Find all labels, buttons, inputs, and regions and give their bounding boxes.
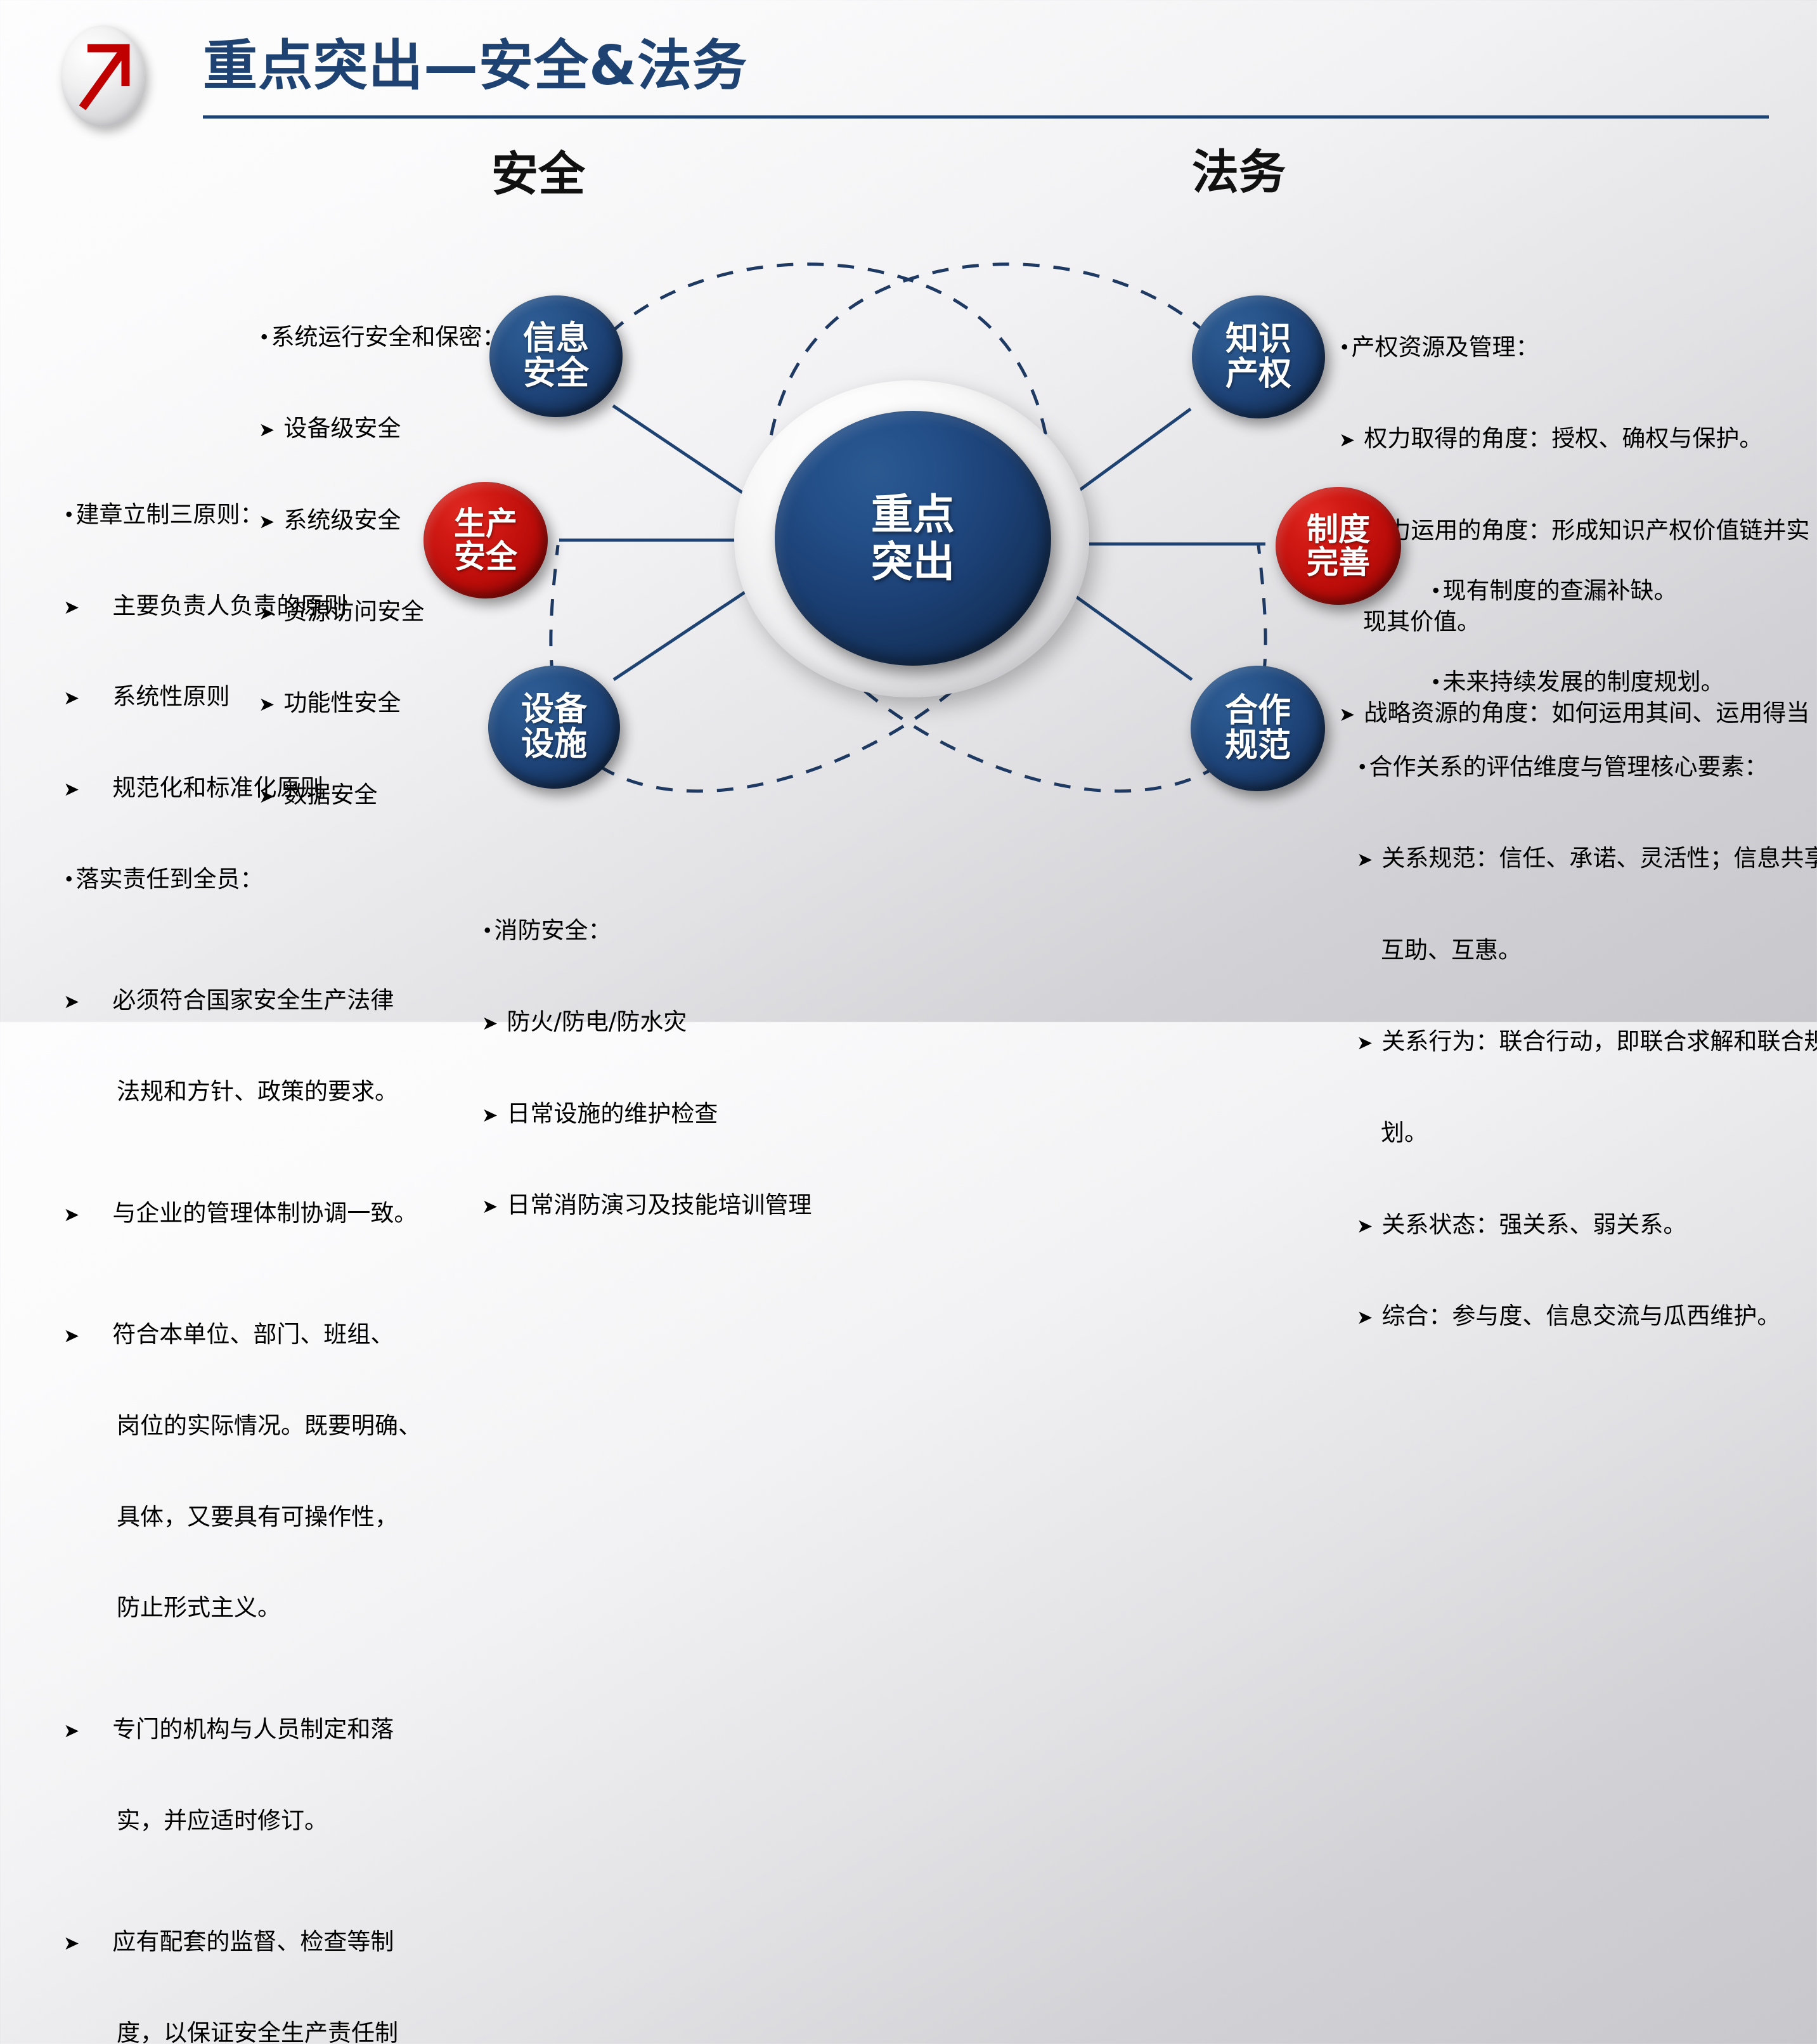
list-item: 防火/防电/防水灾 [482, 1007, 812, 1037]
heading: 系统运行安全和保密： [259, 322, 505, 353]
node-intellectual-property[interactable]: 知识 产权 [1192, 295, 1325, 418]
list-item-continuation: 划。 [1357, 1118, 1817, 1148]
heading: 落实责任到全员： [63, 864, 422, 895]
hub-line-1: 重点 [871, 491, 955, 538]
node-label-line1: 生产 [454, 507, 517, 541]
heading: 合作关系的评估维度与管理核心要素： [1357, 752, 1817, 782]
list-item: 必须符合国家安全生产法律 [63, 985, 422, 1016]
list-item: 主要负责人负责的原则 [63, 591, 422, 621]
node-label-line2: 设施 [521, 727, 587, 762]
list-item-continuation: 具体，又要具有可操作性， [63, 1502, 422, 1532]
node-information-security[interactable]: 信息 安全 [489, 295, 623, 417]
text-block-fire-safety: 消防安全： 防火/防电/防水灾 日常设施的维护检查 日常消防演习及技能培训管理 [482, 855, 812, 1251]
list-item: 关系规范：信任、承诺、灵活性；信息共享 [1357, 843, 1817, 874]
list-item: 与企业的管理体制协调一致。 [63, 1198, 422, 1229]
list-item: 应有配套的监督、检查等制 [63, 1927, 422, 1957]
node-label-line1: 合作 [1225, 694, 1291, 728]
node-cooperation-norms[interactable]: 合作 规范 [1191, 666, 1325, 791]
node-label-line2: 完善 [1307, 546, 1370, 579]
list-item: 专门的机构与人员制定和落 [63, 1714, 422, 1745]
hub-line-2: 突出 [871, 538, 955, 586]
text-block-rules-building: 建章立制三原则： 主要负责人负责的原则 系统性原则 规范化和标准化原则 落实责任… [63, 439, 422, 2044]
node-label-line1: 信息 [523, 321, 589, 356]
node-institution-improvement[interactable]: 制度 完善 [1276, 487, 1401, 605]
heading: 产权资源及管理： [1339, 332, 1809, 363]
list-item-continuation: 实，并应适时修订。 [63, 1806, 422, 1836]
heading: 建章立制三原则： [63, 500, 422, 530]
text-block-cooperation: 合作关系的评估维度与管理核心要素： 关系规范：信任、承诺、灵活性；信息共享 互助… [1357, 691, 1817, 1362]
node-label-line2: 安全 [454, 540, 517, 574]
list-item: 系统性原则 [63, 682, 422, 712]
list-item: 日常消防演习及技能培训管理 [482, 1190, 812, 1220]
list-item: 权力取得的角度：授权、确权与保护。 [1339, 424, 1809, 454]
node-label-line1: 制度 [1307, 513, 1370, 547]
list-item: 关系行为：联合行动，即联合求解和联合规 [1357, 1026, 1817, 1057]
list-item: 关系状态：强关系、弱关系。 [1357, 1210, 1817, 1240]
list-item: 符合本单位、部门、班组、 [63, 1319, 422, 1350]
list-item-continuation: 防止形式主义。 [63, 1593, 422, 1623]
node-production-safety[interactable]: 生产 安全 [424, 482, 548, 598]
list-item-continuation: 法规和方针、政策的要求。 [63, 1077, 422, 1107]
list-item: 规范化和标准化原则 [63, 773, 422, 803]
heading: 消防安全： [482, 915, 812, 946]
node-label-line2: 安全 [523, 356, 589, 391]
node-equipment-facilities[interactable]: 设备 设施 [488, 666, 620, 789]
list-item-continuation: 度，以保证安全生产责任制 [63, 2018, 422, 2044]
hub-center[interactable]: 重点 突出 [775, 411, 1051, 666]
list-item-continuation: 互助、互惠。 [1357, 935, 1817, 966]
node-label-line1: 知识 [1225, 322, 1291, 357]
node-label-line1: 设备 [521, 692, 587, 727]
node-label-line2: 产权 [1225, 357, 1291, 392]
list-item-continuation: 岗位的实际情况。既要明确、 [63, 1411, 422, 1441]
node-label-line2: 规范 [1225, 728, 1291, 763]
list-item: 日常设施的维护检查 [482, 1099, 812, 1129]
list-item: 综合：参与度、信息交流与瓜西维护。 [1357, 1301, 1817, 1331]
bullet-item: 现有制度的查漏补缺。 [1430, 576, 1724, 606]
